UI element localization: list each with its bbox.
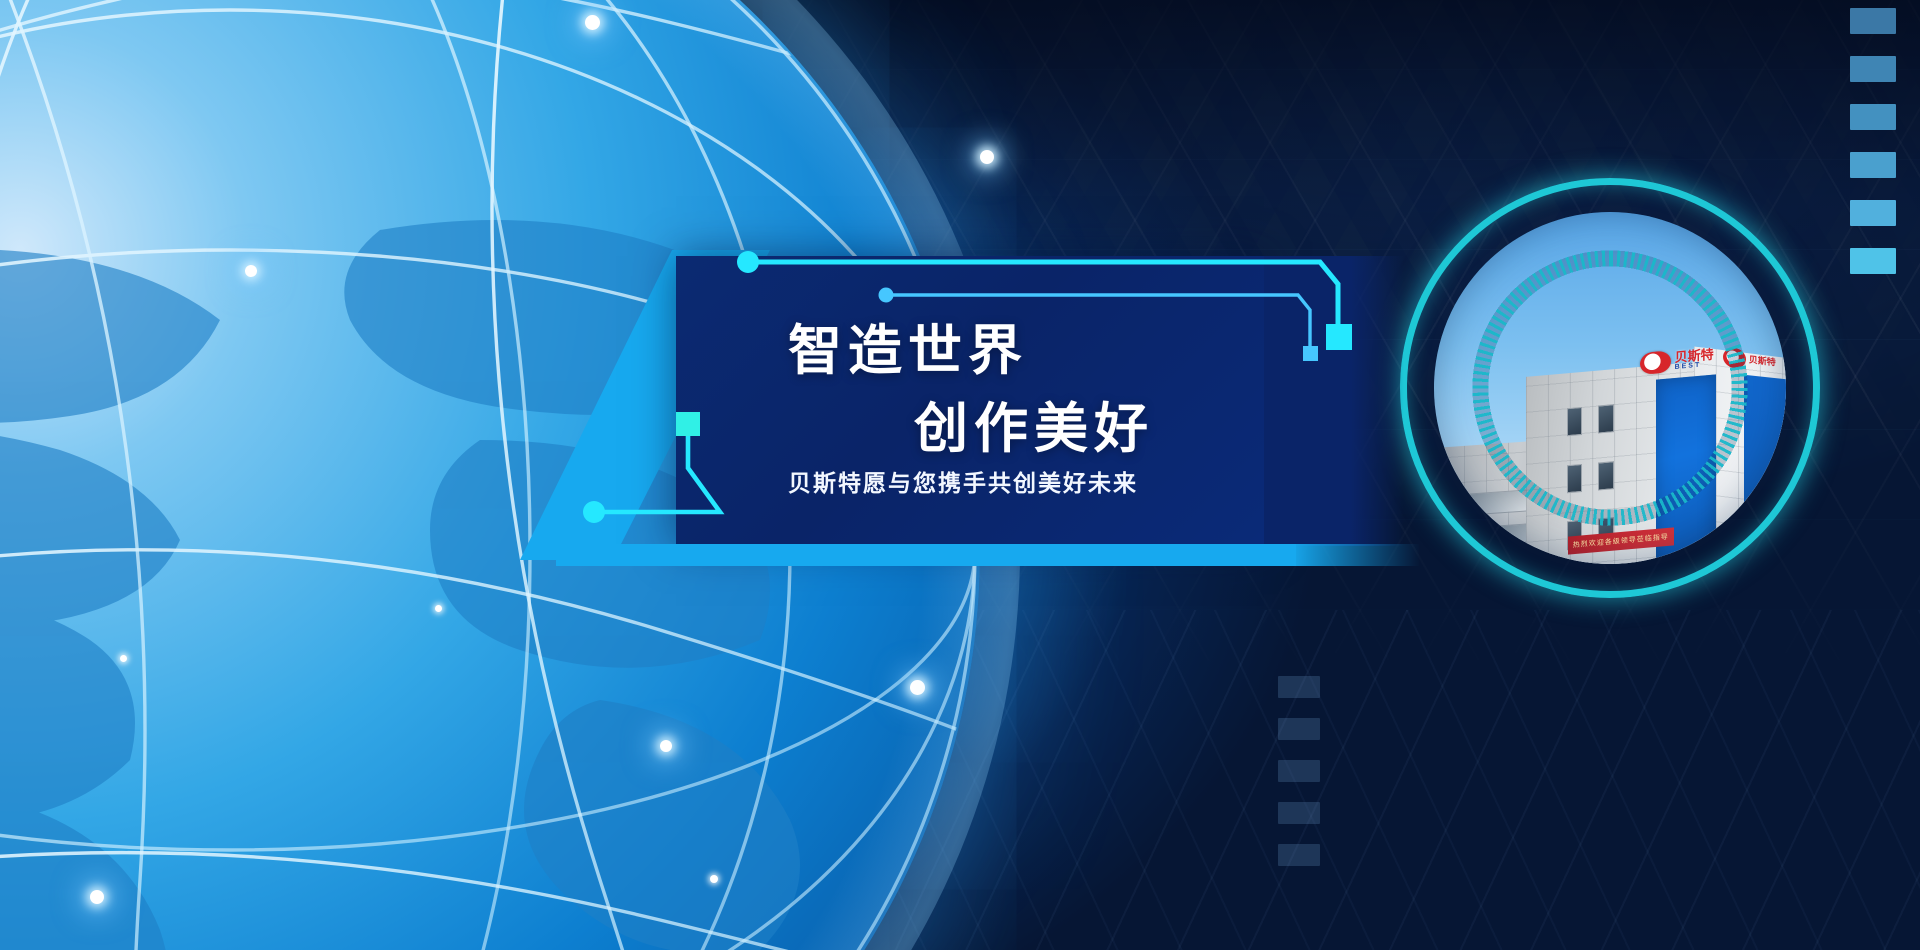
edge-dash-mark [1850,56,1896,82]
panel-bottom-bar-fade [1290,544,1420,566]
ring-outline [1400,178,1820,598]
headline-panel-fade [1264,256,1404,546]
edge-dash-mark [1850,104,1896,130]
company-photo-ring: 贝斯特 BEST 贝斯特 热烈欢迎各级领导莅临指导 [1400,178,1820,598]
lower-dash-group [1278,676,1320,866]
edge-dash-mark [1850,8,1896,34]
lower-dash-mark [1278,676,1320,698]
right-edge-dash-group [1850,8,1896,274]
headline-subtitle: 贝斯特愿与您携手共创美好未来 [788,464,1138,498]
edge-dash-mark [1850,248,1896,274]
lower-dash-mark [1278,760,1320,782]
lower-dash-mark [1278,802,1320,824]
hero-banner: 贝斯特 BEST 贝斯特 热烈欢迎各级领导莅临指导 [0,0,1920,950]
headline-text-group: 智造世界 创作美好 贝斯特愿与您携手共创美好未来 [676,256,1264,546]
lower-dash-mark [1278,718,1320,740]
headline-line-1: 智造世界 [788,306,1028,385]
globe-node [980,150,994,164]
headline-line-2: 创作美好 [914,384,1154,463]
edge-dash-mark [1850,200,1896,226]
edge-dash-mark [1850,152,1896,178]
lower-dash-mark [1278,844,1320,866]
panel-bottom-bar [556,544,1296,566]
